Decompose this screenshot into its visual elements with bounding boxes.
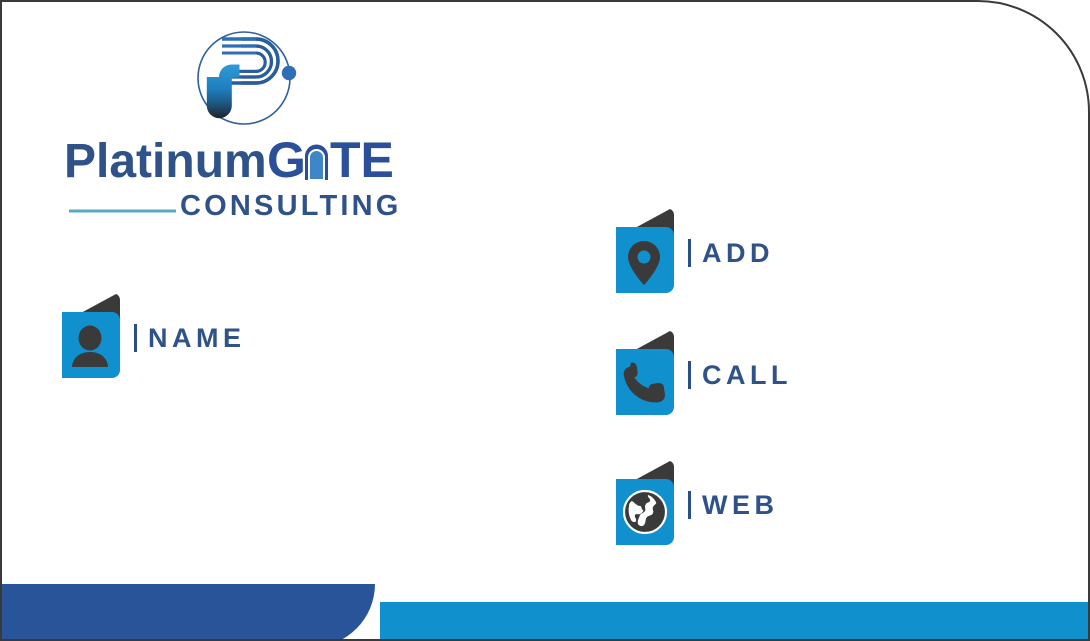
contact-item-call[interactable]: CALL: [614, 327, 792, 423]
contact-label-add: ADD: [702, 240, 774, 267]
globe-icon: [624, 491, 666, 533]
contact-item-web[interactable]: WEB: [614, 457, 779, 553]
brand-tagline-row: CONSULTING: [64, 186, 409, 220]
phone-card-icon: [614, 327, 676, 423]
contact-label-name: NAME: [148, 325, 246, 352]
label-divider-bar: [688, 239, 691, 267]
contact-label-group-name: NAME: [134, 324, 246, 352]
label-divider-bar: [688, 361, 691, 389]
brand-wordmark: Platinum G TE: [64, 136, 409, 188]
contact-label-group-web: WEB: [688, 491, 779, 519]
wordmark-g: G: [267, 136, 306, 188]
bottom-band-light: [380, 602, 1090, 641]
gate-arch-letter-a-icon: [305, 145, 328, 181]
wordmark-platinum: Platinum: [64, 136, 267, 188]
person-card-icon: [60, 290, 122, 386]
location-pin-card-icon: [614, 205, 676, 301]
contact-label-group-add: ADD: [688, 239, 774, 267]
contact-item-name[interactable]: NAME: [60, 290, 246, 386]
globe-card-icon: [614, 457, 676, 553]
contact-label-group-call: CALL: [688, 361, 792, 389]
contact-item-add[interactable]: ADD: [614, 205, 774, 301]
label-divider-bar: [134, 324, 137, 352]
label-divider-bar: [688, 491, 691, 519]
wordmark-te: TE: [330, 136, 394, 188]
contact-label-web: WEB: [702, 492, 779, 519]
brand-tagline: CONSULTING: [180, 190, 402, 220]
contact-label-call: CALL: [702, 362, 792, 389]
brand-logo: Platinum G TE CONSULTING: [64, 20, 409, 210]
stylized-p-circle-logo-icon: [186, 20, 306, 140]
business-card-canvas: Platinum G TE CONSULTING: [0, 0, 1090, 641]
bottom-band-dark: [0, 584, 375, 641]
